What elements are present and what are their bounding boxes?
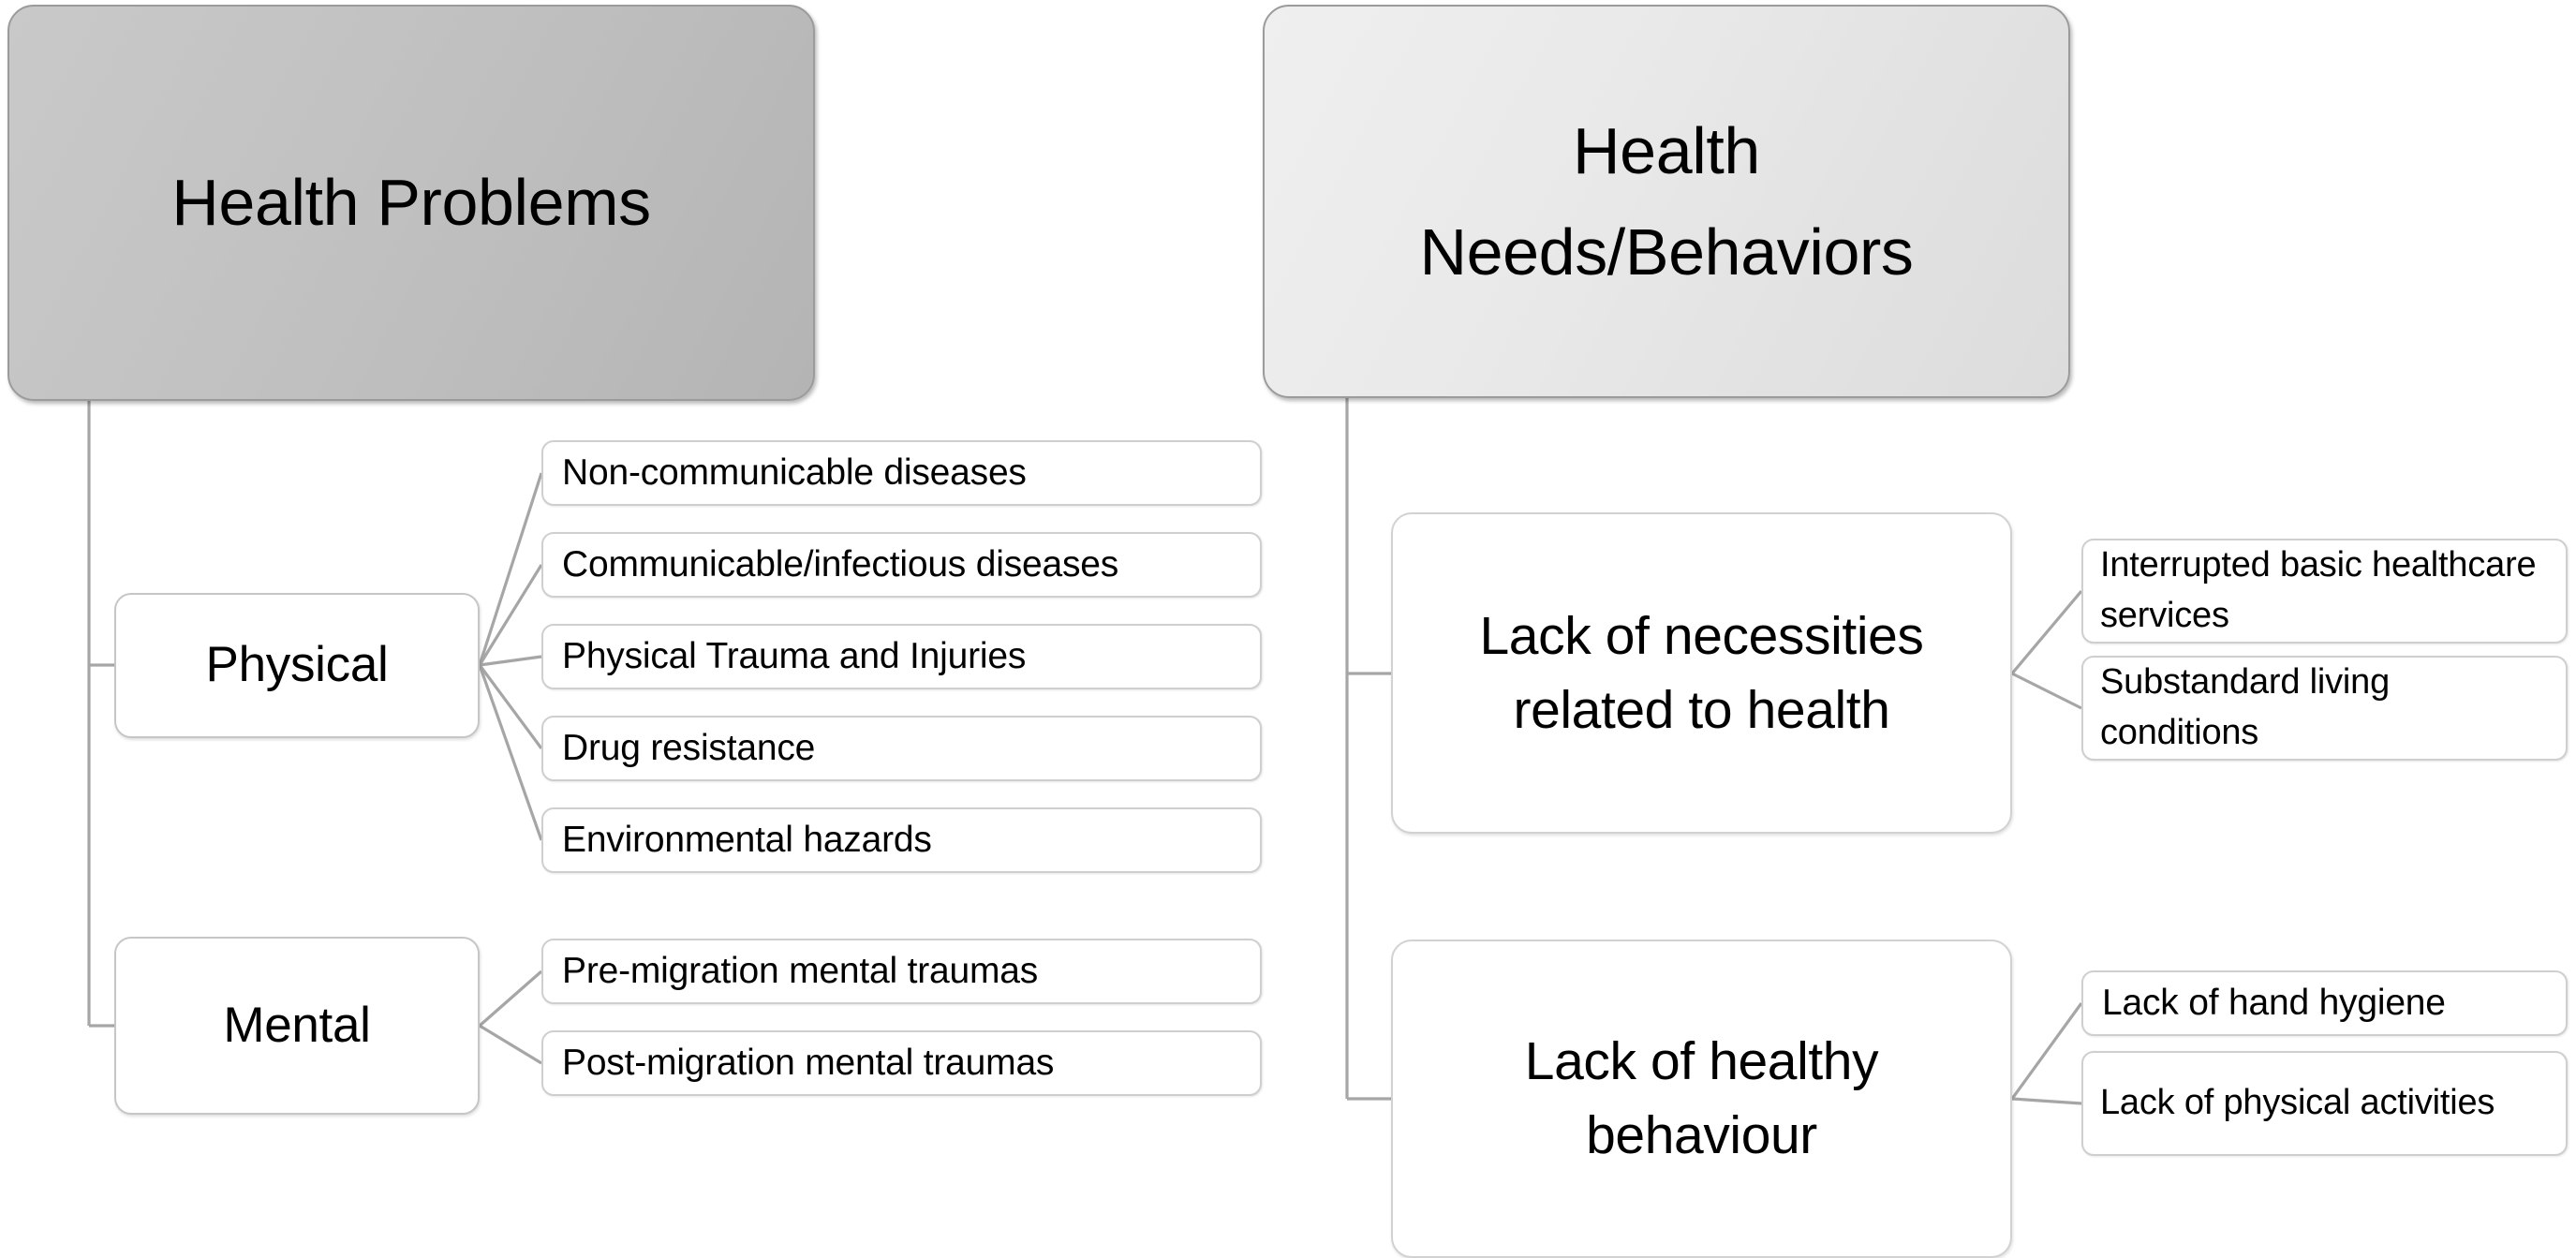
leaf-label: Interrupted basic healthcare services [2100, 540, 2549, 642]
wire-physical-to-drug [480, 665, 541, 748]
wire-physical-to-env [480, 665, 541, 840]
leaf-lack-of-physical-activities[interactable]: Lack of physical activities [2081, 1051, 2568, 1156]
leaf-physical-trauma-and-injuries[interactable]: Physical Trauma and Injuries [541, 624, 1262, 689]
leaf-pre-migration-mental-traumas[interactable]: Pre-migration mental traumas [541, 939, 1262, 1004]
root-health-problems[interactable]: Health Problems [7, 5, 815, 401]
leaf-lack-of-hand-hygiene[interactable]: Lack of hand hygiene [2081, 970, 2568, 1036]
diagram-canvas: Health Problems Health Needs/Behaviors P… [0, 0, 2576, 1258]
wire-physical-to-cid [480, 565, 541, 665]
leaf-non-communicable-diseases[interactable]: Non-communicable diseases [541, 440, 1262, 506]
category-lack-of-necessities-label: Lack of necessities related to health [1417, 599, 1986, 747]
wire-mental-to-post [480, 1026, 541, 1063]
leaf-interrupted-basic-healthcare-services[interactable]: Interrupted basic healthcare services [2081, 539, 2568, 644]
category-physical-label: Physical [206, 633, 389, 698]
root-label-line2: Needs/Behaviors [1419, 201, 1913, 303]
leaf-label: Pre-migration mental traumas [562, 948, 1038, 996]
wire-behaviour-to-phys [2012, 1099, 2081, 1103]
leaf-post-migration-mental-traumas[interactable]: Post-migration mental traumas [541, 1030, 1262, 1096]
category-mental[interactable]: Mental [114, 937, 480, 1115]
wire-physical-to-ncd [480, 473, 541, 665]
category-lack-of-healthy-behaviour[interactable]: Lack of healthy behaviour [1391, 940, 2012, 1258]
category-physical[interactable]: Physical [114, 593, 480, 738]
leaf-label: Post-migration mental traumas [562, 1040, 1054, 1088]
wire-physical-to-pti [480, 657, 541, 665]
leaf-drug-resistance[interactable]: Drug resistance [541, 716, 1262, 781]
wire-necessities-to-slc [2012, 673, 2081, 708]
root-health-needs-behaviors[interactable]: Health Needs/Behaviors [1263, 5, 2070, 398]
leaf-label: Lack of hand hygiene [2102, 980, 2446, 1028]
leaf-label: Drug resistance [562, 725, 815, 773]
category-mental-label: Mental [223, 994, 370, 1058]
leaf-label: Physical Trauma and Injuries [562, 633, 1026, 681]
root-label-line1: Health [1419, 100, 1913, 202]
wire-necessities-to-ibhs [2012, 591, 2081, 673]
category-lack-of-necessities[interactable]: Lack of necessities related to health [1391, 512, 2012, 834]
leaf-label: Substandard living conditions [2100, 658, 2549, 759]
wire-mental-to-pre [480, 971, 541, 1026]
root-health-problems-label: Health Problems [9, 152, 813, 254]
root-health-needs-behaviors-label: Health Needs/Behaviors [1419, 100, 1913, 303]
leaf-environmental-hazards[interactable]: Environmental hazards [541, 807, 1262, 873]
wire-behaviour-to-hand [2012, 1003, 2081, 1099]
leaf-label: Non-communicable diseases [562, 450, 1027, 497]
leaf-label: Communicable/infectious diseases [562, 541, 1118, 589]
leaf-substandard-living-conditions[interactable]: Substandard living conditions [2081, 656, 2568, 761]
leaf-label: Lack of physical activities [2100, 1078, 2495, 1129]
category-lack-of-healthy-behaviour-label: Lack of healthy behaviour [1417, 1025, 1986, 1172]
leaf-communicable-infectious-diseases[interactable]: Communicable/infectious diseases [541, 532, 1262, 598]
leaf-label: Environmental hazards [562, 817, 932, 865]
